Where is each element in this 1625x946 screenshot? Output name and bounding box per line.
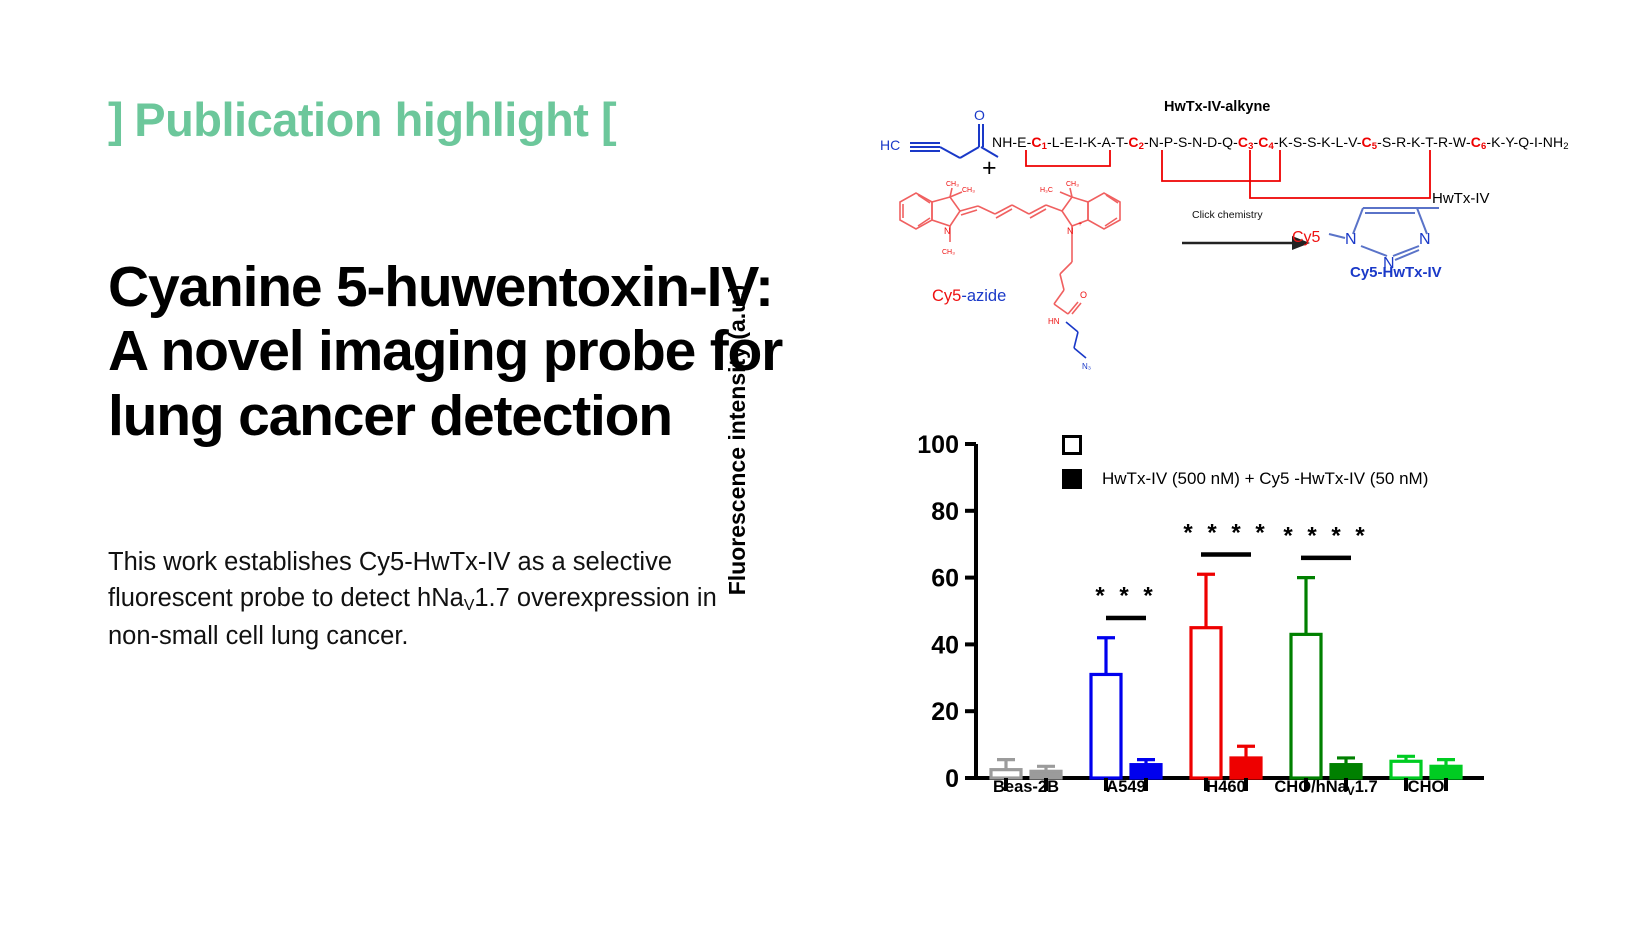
- publication-highlight-page: ] Publication highlight [ Cyanine 5-huwe…: [0, 0, 1625, 946]
- svg-text:* * * *: * * * *: [1283, 523, 1368, 550]
- bar-H460-filled: [1231, 758, 1261, 778]
- bracket-right-icon: [: [601, 93, 615, 146]
- svg-text:0: 0: [945, 765, 959, 793]
- svg-text:HN: HN: [1048, 317, 1060, 326]
- reaction-scheme: HwTx-IV-alkyne HC O NH-E-C1-L-E-I-K-A-T-…: [872, 92, 1572, 382]
- svg-text:N: N: [1067, 226, 1074, 236]
- x-axis-label-CHO: CHO: [1408, 778, 1445, 797]
- chart-plot-area: 020406080100* * ** * * ** * * *: [884, 412, 1484, 812]
- kicker-text: Publication highlight: [134, 93, 588, 146]
- significance-marker-CHOhNaV17: * * * *: [1283, 523, 1368, 561]
- significance-marker-A549: * * *: [1095, 583, 1156, 621]
- bar-A549-filled: [1131, 765, 1161, 778]
- bracket-left-icon: ]: [108, 93, 122, 146]
- x-axis-label-A549: A549: [1106, 778, 1145, 797]
- significance-marker-H460: * * * *: [1183, 519, 1268, 557]
- bar-CHO-filled: [1431, 766, 1461, 778]
- product-name-label: Cy5-HwTx-IV: [1350, 264, 1442, 281]
- scheme-title-hwtx-iv-alkyne: HwTx-IV-alkyne: [1164, 99, 1270, 115]
- svg-text:N₃: N₃: [1082, 362, 1091, 371]
- product-cy5-label: Cy5: [1292, 229, 1320, 247]
- summary-paragraph: This work establishes Cy5-HwTx-IV as a s…: [108, 544, 768, 654]
- bar-Beas2B-open: [991, 770, 1021, 778]
- svg-text:CH₃: CH₃: [962, 187, 975, 194]
- x-axis-label-H460: H460: [1206, 778, 1245, 797]
- bar-Beas2B-filled: [1031, 771, 1061, 778]
- product-arm-label: HwTx-IV: [1432, 190, 1490, 207]
- bar-CHOhNaV17-filled: [1331, 765, 1361, 778]
- svg-text:O: O: [974, 107, 985, 123]
- subscript-v: V: [464, 597, 475, 614]
- x-axis-label-Beas2B: Beas-2B: [993, 778, 1059, 797]
- svg-text:N: N: [944, 226, 951, 236]
- svg-text:CH₃: CH₃: [942, 249, 955, 256]
- svg-text:O: O: [1080, 290, 1087, 300]
- svg-text:N: N: [1345, 231, 1357, 248]
- svg-text:100: 100: [917, 431, 959, 459]
- fluorescence-bar-chart: Fluorescence intensity (a.u.) HwTx-IV (5…: [884, 412, 1484, 832]
- bar-A549-open: [1091, 674, 1121, 778]
- svg-text:H₃C: H₃C: [1040, 187, 1053, 194]
- svg-text:40: 40: [931, 631, 959, 659]
- cy5-azide-blue-part: -azide: [961, 287, 1006, 305]
- svg-text:20: 20: [931, 698, 959, 726]
- svg-text:60: 60: [931, 565, 959, 593]
- svg-text:80: 80: [931, 498, 959, 526]
- svg-text:* * *: * * *: [1095, 583, 1156, 610]
- x-axis-label-CHOhNaV17: CHO/hNaV1.7: [1274, 778, 1377, 798]
- cy5-azide-structure-icon: N CH₃ CH₃ CH₃ N + CH₃ H₃C O HN N₃: [882, 172, 1202, 372]
- svg-text:CH₃: CH₃: [946, 181, 959, 188]
- svg-text:CH₃: CH₃: [1066, 181, 1079, 188]
- svg-text:HC: HC: [880, 137, 900, 153]
- svg-text:* * * *: * * * *: [1183, 519, 1268, 546]
- bar-CHOhNaV17-open: [1291, 634, 1321, 778]
- svg-text:N: N: [1419, 231, 1431, 248]
- cy5-azide-label: Cy5-azide: [932, 287, 1006, 306]
- y-axis-label: Fluorescence intensity (a.u.): [724, 260, 751, 620]
- bar-H460-open: [1191, 628, 1221, 778]
- kicker-publication-highlight: ] Publication highlight [: [108, 96, 838, 143]
- click-chemistry-label: Click chemistry: [1192, 209, 1263, 221]
- cy5-azide-red-part: Cy5: [932, 287, 961, 305]
- x-axis-labels: Beas-2BA549H460CHO/hNaV1.7CHO: [976, 778, 1476, 808]
- page-title: Cyanine 5-huwentoxin-IV: A novel imaging…: [108, 255, 808, 448]
- svg-text:+: +: [1078, 221, 1082, 228]
- bar-CHO-open: [1391, 761, 1421, 778]
